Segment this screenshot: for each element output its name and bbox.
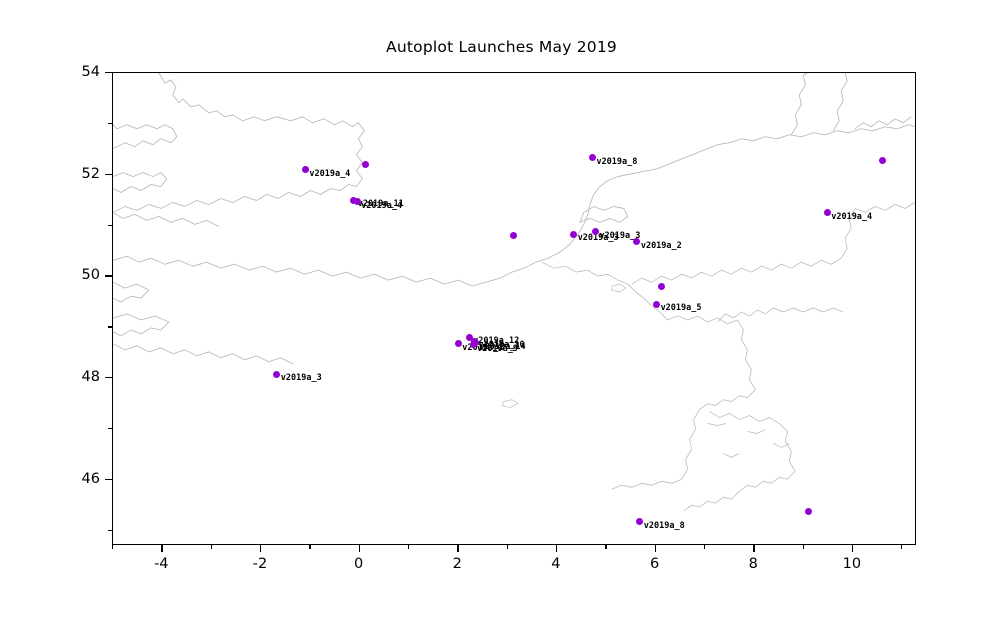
basemap-coastlines bbox=[113, 73, 915, 544]
x-axis-tick bbox=[901, 545, 902, 549]
x-axis-tick bbox=[605, 545, 606, 549]
map-plot-area: v2019a_4v2019a_11v2019a_4v2019a_8v2019a_… bbox=[112, 72, 916, 545]
y-axis-tick bbox=[108, 530, 112, 531]
x-axis-tick bbox=[161, 545, 162, 552]
x-axis-tick bbox=[556, 545, 557, 552]
x-tick-label: -4 bbox=[154, 556, 168, 572]
x-axis-tick bbox=[112, 545, 113, 549]
y-tick-label: 50 bbox=[60, 267, 100, 283]
x-axis-tick bbox=[408, 545, 409, 549]
x-axis-tick bbox=[655, 545, 656, 552]
figure-canvas: Autoplot Launches May 2019 bbox=[0, 0, 1003, 633]
y-axis-tick bbox=[108, 428, 112, 429]
y-axis-tick bbox=[105, 377, 112, 378]
x-axis-tick bbox=[359, 545, 360, 552]
y-tick-label: 46 bbox=[60, 471, 100, 487]
y-axis-tick bbox=[105, 275, 112, 276]
y-axis-tick bbox=[105, 174, 112, 175]
x-tick-label: 6 bbox=[650, 556, 659, 572]
x-axis-tick bbox=[507, 545, 508, 549]
x-tick-label: 4 bbox=[551, 556, 560, 572]
x-tick-label: -2 bbox=[253, 556, 267, 572]
x-axis-tick bbox=[803, 545, 804, 549]
x-axis-tick bbox=[309, 545, 310, 549]
x-axis-tick bbox=[457, 545, 458, 552]
chart-title: Autoplot Launches May 2019 bbox=[0, 38, 1003, 56]
x-axis-tick bbox=[211, 545, 212, 549]
y-axis-tick bbox=[108, 123, 112, 124]
x-axis-tick bbox=[852, 545, 853, 552]
x-axis-tick bbox=[753, 545, 754, 552]
y-axis-tick bbox=[108, 326, 112, 327]
x-tick-label: 8 bbox=[749, 556, 758, 572]
x-tick-label: 2 bbox=[453, 556, 462, 572]
y-tick-label: 52 bbox=[60, 166, 100, 182]
y-tick-label: 54 bbox=[60, 64, 100, 80]
x-axis-tick bbox=[260, 545, 261, 552]
y-tick-label: 48 bbox=[60, 369, 100, 385]
x-tick-label: 0 bbox=[354, 556, 363, 572]
y-axis-tick bbox=[108, 225, 112, 226]
y-axis-tick bbox=[105, 72, 112, 73]
x-tick-label: 10 bbox=[843, 556, 861, 572]
y-axis-tick bbox=[105, 479, 112, 480]
x-axis-tick bbox=[704, 545, 705, 549]
